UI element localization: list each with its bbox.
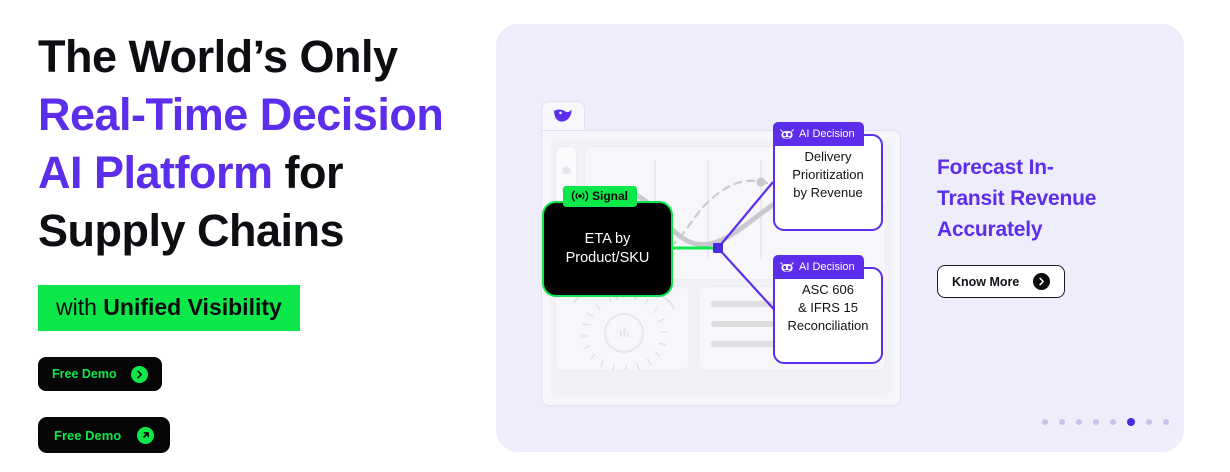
signal-node-title-line1: ETA by [566, 230, 650, 249]
gauge-card [555, 286, 690, 371]
page-title: The World’s Only Real-Time Decision AI P… [38, 28, 468, 260]
ai-card-line-2: & IFRS 15 [779, 299, 877, 317]
highlight-bold: Unified Visibility [103, 294, 282, 320]
ai-decision-tag-label: AI Decision [799, 125, 855, 143]
headline-line-3: AI Platform for [38, 144, 468, 202]
chevron-right-circle-icon [131, 366, 148, 383]
broadcast-signal-icon [571, 190, 589, 202]
free-demo-button-secondary[interactable]: Free Demo [38, 417, 170, 453]
carousel-dot[interactable] [1042, 419, 1048, 425]
feature-title: Forecast In- Transit Revenue Accurately [937, 152, 1157, 245]
feature-title-line1: Forecast In- [937, 152, 1157, 183]
feature-title-line3: Accurately [937, 214, 1157, 245]
hero-section: The World’s Only Real-Time Decision AI P… [0, 0, 480, 472]
headline-line-1: The World’s Only [38, 28, 468, 86]
know-more-button[interactable]: Know More [937, 265, 1065, 298]
home-icon[interactable] [561, 164, 572, 175]
chevron-right-circle-icon [1033, 273, 1050, 290]
carousel-dot[interactable] [1163, 419, 1169, 425]
carousel-dot[interactable] [1076, 419, 1082, 425]
ai-card-line-3: by Revenue [779, 184, 877, 202]
ai-decision-tag-label: AI Decision [799, 258, 855, 276]
signal-node-title-line2: Product/SKU [566, 249, 650, 268]
ai-card-line-3: Reconciliation [779, 317, 877, 335]
carousel-dot[interactable] [1093, 419, 1099, 425]
feature-title-line2: Transit Revenue [937, 183, 1157, 214]
free-demo-button-primary[interactable]: Free Demo [38, 357, 162, 391]
headline-line-3-rest: for [273, 147, 344, 198]
signal-badge-label: Signal [592, 189, 628, 203]
highlight-band: with Unified Visibility [38, 285, 300, 331]
headline-line-2: Real-Time Decision [38, 86, 468, 144]
ai-decision-card-reconciliation: AI Decision ASC 606 & IFRS 15 Reconcilia… [773, 267, 883, 364]
carousel-dot[interactable] [1146, 419, 1152, 425]
headline-line-3-accent: AI Platform [38, 147, 273, 198]
robot-head-icon [780, 129, 794, 140]
robot-head-icon [780, 262, 794, 273]
free-demo-secondary-label: Free Demo [54, 428, 121, 443]
ai-decision-card-delivery: AI Decision Delivery Prioritization by R… [773, 134, 883, 231]
carousel-dot[interactable] [1059, 419, 1065, 425]
signal-node-title: ETA by Product/SKU [566, 230, 650, 268]
know-more-label: Know More [952, 275, 1019, 289]
carousel-dot[interactable] [1110, 419, 1116, 425]
signal-node-card: ETA by Product/SKU [542, 201, 673, 297]
highlight-prefix: with [56, 294, 103, 320]
ai-decision-tag: AI Decision [773, 122, 864, 146]
browser-tab[interactable] [541, 101, 585, 132]
ai-decision-tag: AI Decision [773, 255, 864, 279]
bird-logo-icon [552, 106, 574, 129]
ai-card-line-1: ASC 606 [779, 281, 877, 299]
radial-dial-icon [556, 287, 690, 371]
ai-card-line-2: Prioritization [779, 166, 877, 184]
carousel-dot-active[interactable] [1127, 418, 1135, 426]
carousel-dots[interactable] [1042, 418, 1169, 426]
headline-line-4: Supply Chains [38, 202, 468, 260]
ai-card-line-1: Delivery [779, 148, 877, 166]
arrow-up-right-circle-icon [137, 427, 154, 444]
signal-badge: Signal [563, 186, 637, 207]
free-demo-primary-label: Free Demo [52, 367, 117, 381]
feature-copy-block: Forecast In- Transit Revenue Accurately … [937, 152, 1157, 298]
